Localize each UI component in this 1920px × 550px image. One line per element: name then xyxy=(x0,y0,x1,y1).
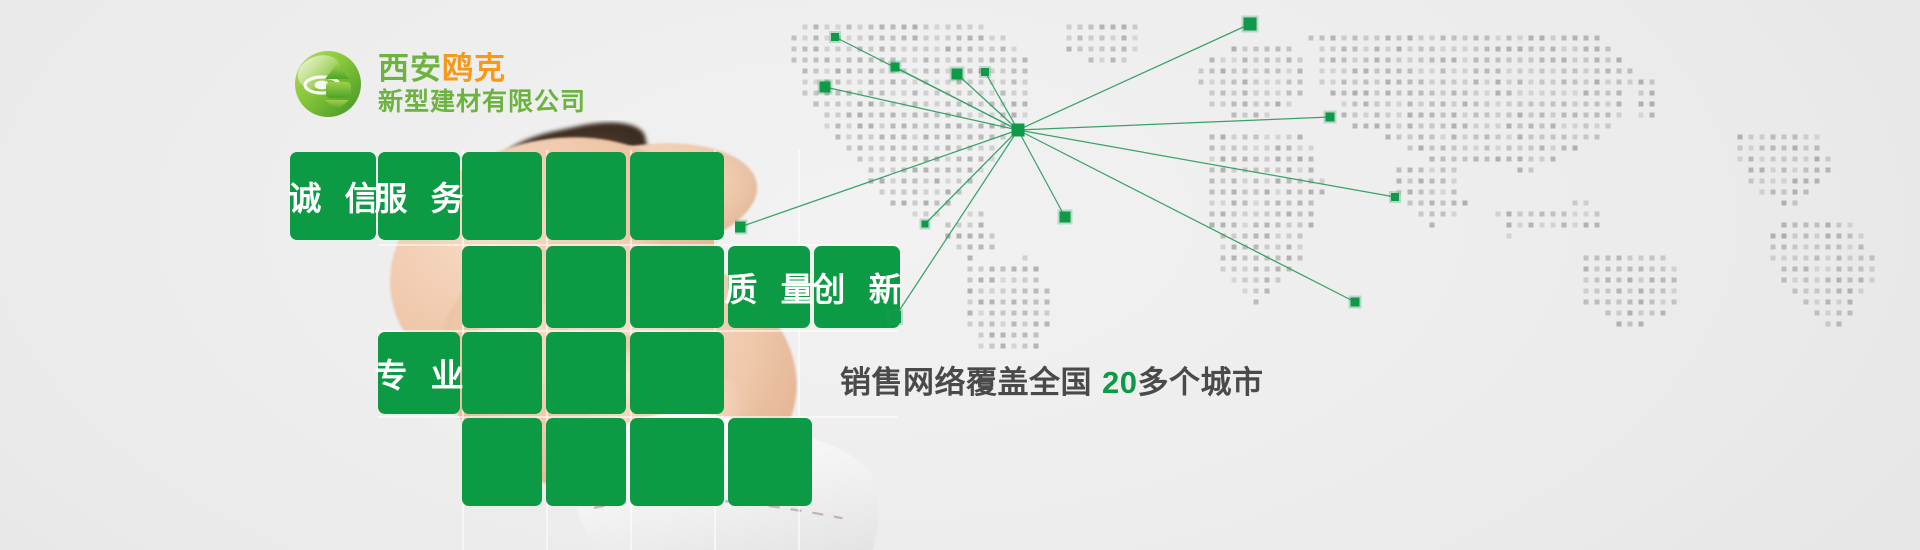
logo-company-name: 西安鸥克 xyxy=(378,53,586,85)
dotted-world-map xyxy=(735,12,1915,357)
value-tile-professional[interactable]: 专 业 xyxy=(378,332,460,414)
mosaic-tile xyxy=(462,332,542,414)
mosaic-tile xyxy=(630,152,724,240)
mosaic-tile xyxy=(728,418,812,506)
mosaic-tile xyxy=(462,246,542,328)
mosaic-tile xyxy=(462,418,542,506)
value-tile-service[interactable]: 服 务 xyxy=(378,152,460,240)
logo-name-prefix: 西安 xyxy=(378,51,442,86)
tagline-trail: 多个城市 xyxy=(1137,365,1263,400)
sales-network-tagline: 销售网络覆盖全国20多个城市 xyxy=(840,357,1263,402)
mosaic-tile xyxy=(546,246,626,328)
leaf-globe-emblem-icon xyxy=(292,48,364,120)
mosaic-tile xyxy=(546,332,626,414)
logo-subtitle: 新型建材有限公司 xyxy=(378,89,586,115)
mosaic-tile xyxy=(630,332,724,414)
mosaic-tile xyxy=(630,246,724,328)
mosaic-tile xyxy=(462,152,542,240)
mosaic-tile xyxy=(546,418,626,506)
mosaic-tile xyxy=(546,152,626,240)
mosaic-tile xyxy=(630,418,724,506)
logo-name-main: 鸥克 xyxy=(442,51,506,86)
tagline-lead: 销售网络覆盖全国 xyxy=(840,365,1092,400)
company-logo[interactable]: 西安鸥克 新型建材有限公司 xyxy=(292,48,586,120)
logo-wordmark: 西安鸥克 新型建材有限公司 xyxy=(378,53,586,114)
tagline-number: 20 xyxy=(1102,365,1137,400)
promo-banner: 诚 信 服 务 质 量 创 新 专 业 xyxy=(0,0,1920,550)
value-tile-integrity[interactable]: 诚 信 xyxy=(290,152,376,240)
